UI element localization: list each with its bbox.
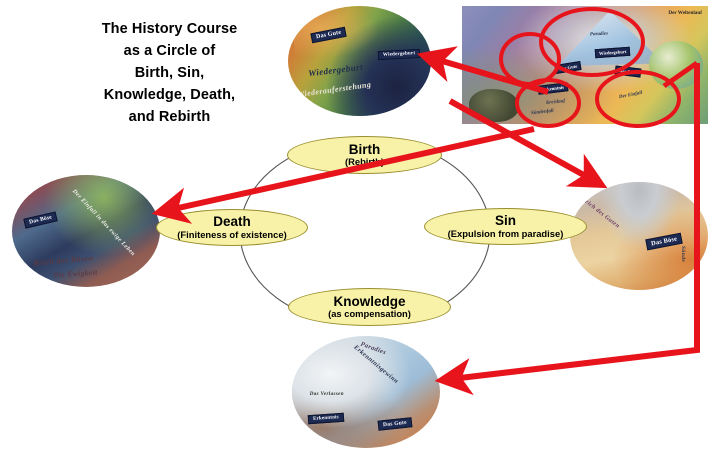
diagram-canvas: The History Course as a Circle of Birth,… <box>0 0 720 460</box>
arrow-to-left-oval <box>160 129 534 212</box>
arrow-to-bottom-oval <box>443 63 697 380</box>
arrow-rail-connector <box>664 63 697 86</box>
connector-arrows <box>0 0 720 460</box>
arrow-to-top-oval <box>425 56 548 92</box>
